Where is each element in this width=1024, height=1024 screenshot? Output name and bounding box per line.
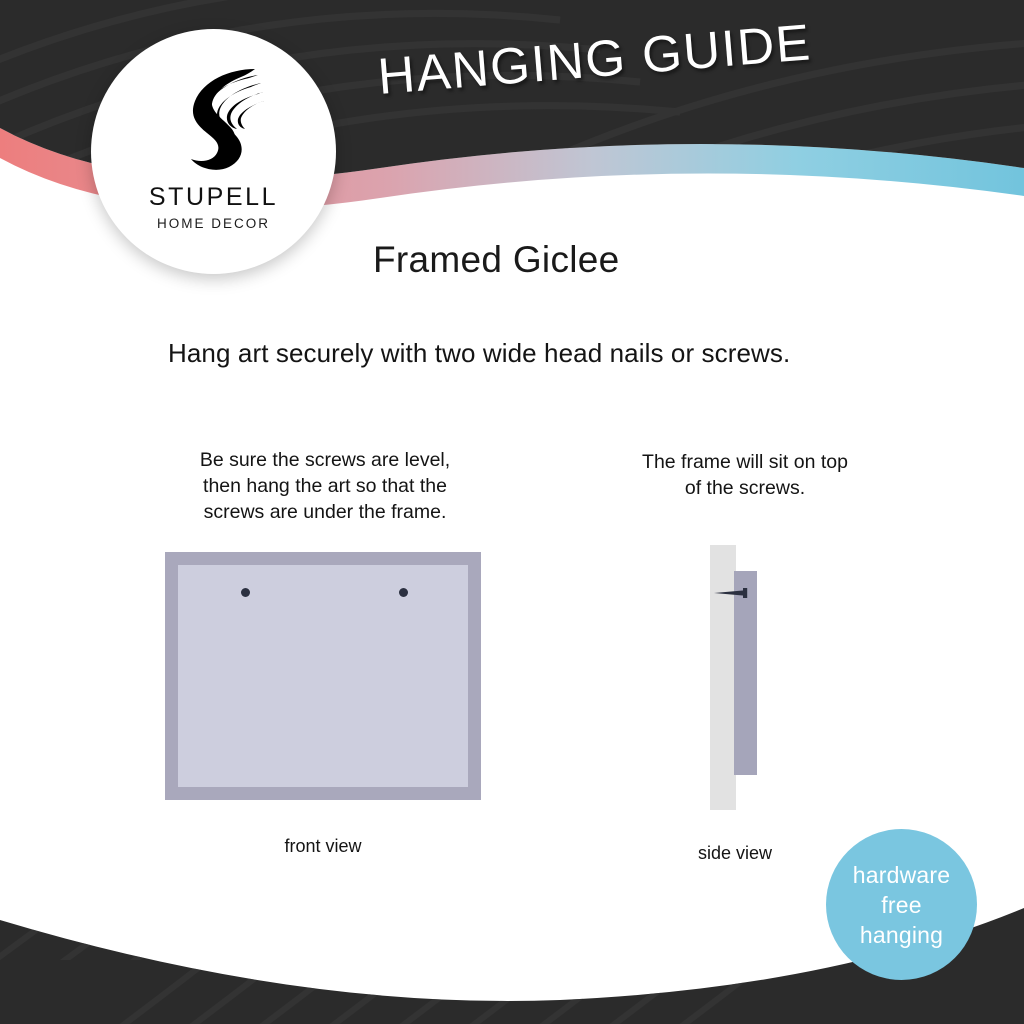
hanging-guide-page: STUPELL HOME DECOR HANGING GUIDE Framed …	[0, 0, 1024, 1024]
hardware-free-hanging-badge: hardware free hanging	[826, 829, 977, 980]
caption-line: Be sure the screws are level,	[165, 447, 485, 473]
caption-line: The frame will sit on top	[600, 449, 890, 475]
side-view-caption: The frame will sit on top of the screws.	[600, 449, 890, 501]
front-view-label: front view	[243, 836, 403, 857]
caption-line: of the screws.	[600, 475, 890, 501]
stupell-swoosh-icon	[159, 63, 269, 181]
badge-line: hanging	[860, 920, 943, 950]
wall-surface	[710, 545, 736, 810]
front-view-frame-diagram	[165, 552, 481, 800]
front-view-caption: Be sure the screws are level, then hang …	[165, 447, 485, 525]
logo-brand-name: STUPELL	[149, 185, 278, 210]
badge-line: hardware	[853, 860, 951, 890]
page-title: HANGING GUIDE	[376, 12, 814, 106]
brand-logo-badge: STUPELL HOME DECOR	[91, 29, 336, 274]
badge-line: free	[881, 890, 921, 920]
product-title: Framed Giclee	[373, 239, 620, 281]
frame-artwork-area	[178, 565, 468, 787]
screw-hole-left-icon	[241, 588, 250, 597]
nail-icon	[714, 588, 756, 598]
side-view-label: side view	[655, 843, 815, 864]
logo-tagline: HOME DECOR	[157, 217, 270, 231]
frame-profile	[734, 571, 757, 775]
lead-instruction: Hang art securely with two wide head nai…	[168, 338, 790, 369]
caption-line: screws are under the frame.	[165, 499, 485, 525]
screw-hole-right-icon	[399, 588, 408, 597]
side-view-diagram	[710, 545, 780, 810]
caption-line: then hang the art so that the	[165, 473, 485, 499]
